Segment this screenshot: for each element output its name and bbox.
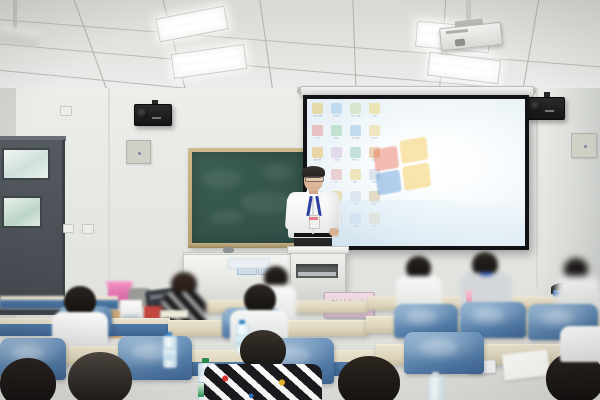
- desktop-icon[interactable]: 播放器: [311, 147, 324, 164]
- desktop-icon-label: 网上邻居: [349, 115, 362, 118]
- projector-lens: [455, 38, 466, 46]
- audience-member: [52, 286, 108, 338]
- desktop-icon-glyph: [369, 103, 380, 114]
- lectern-top: [287, 246, 349, 254]
- eyeglasses-icon: [305, 176, 324, 182]
- presenter-hand: [329, 228, 339, 236]
- door-window-lower: [2, 196, 42, 228]
- desktop-icon-label: 微信: [330, 137, 343, 140]
- desktop-icon[interactable]: 微信: [330, 125, 343, 142]
- id-badge-stripe: [309, 217, 318, 220]
- audience-member: [0, 358, 70, 400]
- audience-member: [204, 330, 322, 400]
- projector-mount-pole: [466, 0, 471, 22]
- classroom-chair[interactable]: [404, 332, 484, 374]
- door-window-upper: [2, 148, 50, 180]
- classroom-presentation-photo: 我的电脑回收站网上邻居文档QQ微信浏览器记事本播放器压缩输入法安全工具用户图片设…: [0, 0, 600, 400]
- speaker-badge: [152, 117, 161, 119]
- water-bottle: [428, 372, 442, 400]
- desktop-icon-label: 记事本: [368, 137, 381, 140]
- desktop-icon-glyph: [369, 125, 380, 136]
- desktop-icon-label: 图片: [349, 181, 362, 184]
- desktop-icon[interactable]: 记事本: [368, 125, 381, 142]
- desktop-icon-glyph: [350, 169, 361, 180]
- desktop-icon-label: 播放器: [311, 159, 324, 162]
- desktop-icon[interactable]: QQ: [311, 125, 324, 142]
- desktop-icon-glyph: [312, 103, 323, 114]
- desktop-icon-label: 我的电脑: [311, 115, 324, 118]
- speaker-badge: [545, 110, 554, 112]
- speaker-cone: [137, 108, 148, 119]
- desktop-icon-label: 文档: [368, 115, 381, 118]
- audience-member: [556, 258, 600, 308]
- desktop-icon[interactable]: 浏览器: [349, 125, 362, 142]
- desktop-icon-glyph: [350, 125, 361, 136]
- desktop-icon-glyph: [312, 125, 323, 136]
- desktop-icon-label: 输入法: [349, 159, 362, 162]
- desktop-icon[interactable]: 输入法: [349, 147, 362, 164]
- paper-slip: [160, 310, 188, 318]
- desktop-icon-label: 回收站: [330, 115, 343, 118]
- computer-mouse[interactable]: [223, 247, 234, 253]
- light-switch-plate[interactable]: [82, 224, 94, 234]
- suspended-ceiling: [0, 0, 600, 92]
- outlet-plate[interactable]: [63, 224, 74, 233]
- ceiling-light-fixture: [427, 52, 501, 85]
- desktop-icon-glyph: [312, 147, 323, 158]
- desktop-icon-label: 压缩: [330, 159, 343, 162]
- desktop-icon-label: 浏览器: [349, 137, 362, 140]
- light-switch-plate[interactable]: [60, 106, 72, 116]
- desktop-icon-label: QQ: [311, 137, 324, 140]
- lectern-shelf-item: [298, 272, 336, 276]
- desktop-icon-glyph: [350, 147, 361, 158]
- panel-indicator: [138, 152, 141, 155]
- panel-indicator: [584, 145, 587, 148]
- ceiling-light-fixture: [171, 44, 248, 79]
- presenter: [286, 168, 340, 258]
- audience-member: [560, 318, 600, 358]
- desktop-icon[interactable]: 压缩: [330, 147, 343, 164]
- desktop-icon[interactable]: 回收站: [330, 103, 343, 120]
- desktop-icon[interactable]: 图片: [349, 169, 362, 186]
- windows-logo-icon: [373, 136, 432, 195]
- water-bottle: [163, 332, 175, 366]
- desktop-icon[interactable]: 我的电脑: [311, 103, 324, 120]
- left-fixture-pole: [13, 0, 17, 30]
- console-label: [237, 268, 257, 275]
- desktop-icon-glyph: [331, 147, 342, 158]
- desktop-icon[interactable]: 文档: [368, 103, 381, 120]
- desktop-icon-glyph: [331, 125, 342, 136]
- speaker-cone: [530, 101, 541, 112]
- desktop-icon-glyph: [331, 103, 342, 114]
- desktop-icon[interactable]: 网上邻居: [349, 103, 362, 120]
- audience-member: [330, 356, 416, 400]
- desktop-icon-glyph: [350, 103, 361, 114]
